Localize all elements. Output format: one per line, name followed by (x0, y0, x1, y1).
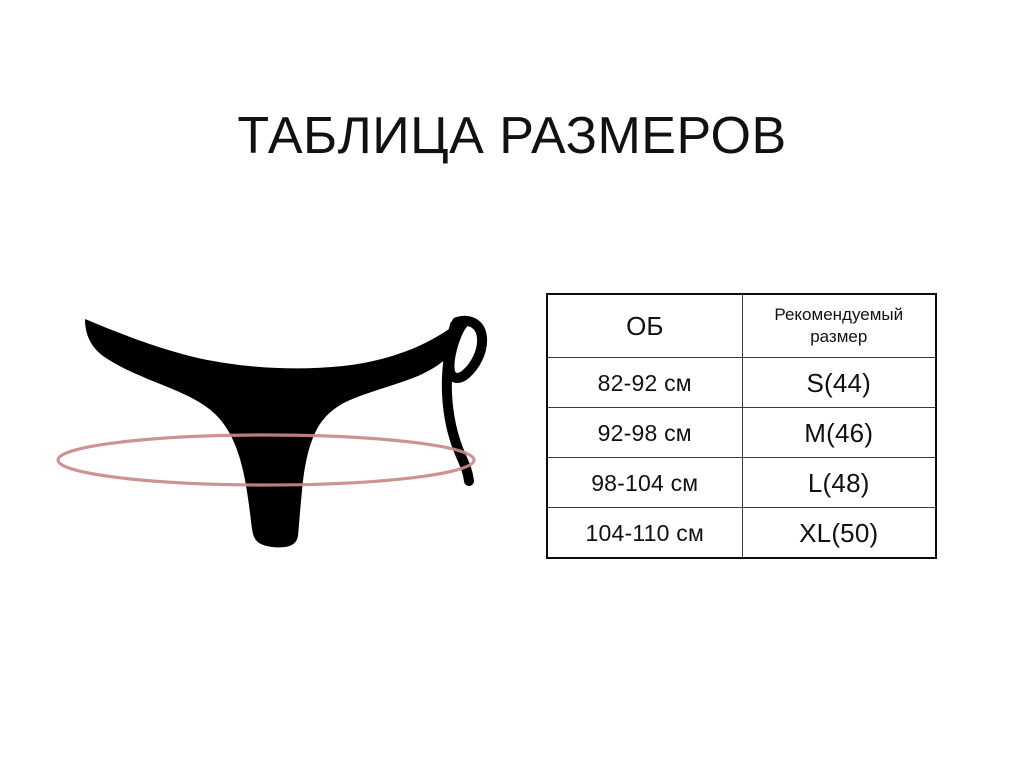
size-chart-slide: ТАБЛИЦА РАЗМЕРОВ ОБ Рекомендуемый размер (0, 0, 1024, 768)
column-header-line-1: Рекомендуемый (774, 305, 903, 324)
column-header-recommended-size: Рекомендуемый размер (742, 294, 936, 358)
cell-ob-range: 92-98 см (547, 408, 742, 458)
garment-body-shape (85, 319, 461, 547)
cell-size-label: M(46) (742, 408, 936, 458)
side-tie-string (447, 325, 469, 481)
cell-ob-range: 82-92 см (547, 358, 742, 408)
table-row: 92-98 см M(46) (547, 408, 936, 458)
garment-illustration (38, 288, 508, 573)
table-header-row: ОБ Рекомендуемый размер (547, 294, 936, 358)
size-table-container: ОБ Рекомендуемый размер 82-92 см S(44) 9… (546, 293, 935, 553)
cell-ob-range: 98-104 см (547, 458, 742, 508)
table-row: 104-110 см XL(50) (547, 508, 936, 559)
cell-size-label: L(48) (742, 458, 936, 508)
page-title: ТАБЛИЦА РАЗМЕРОВ (0, 106, 1024, 166)
column-header-ob: ОБ (547, 294, 742, 358)
size-table: ОБ Рекомендуемый размер 82-92 см S(44) 9… (546, 293, 937, 559)
table-row: 82-92 см S(44) (547, 358, 936, 408)
thong-illustration-svg (38, 288, 508, 573)
column-header-line-2: размер (810, 327, 867, 346)
cell-ob-range: 104-110 см (547, 508, 742, 559)
cell-size-label: XL(50) (742, 508, 936, 559)
cell-size-label: S(44) (742, 358, 936, 408)
table-row: 98-104 см L(48) (547, 458, 936, 508)
